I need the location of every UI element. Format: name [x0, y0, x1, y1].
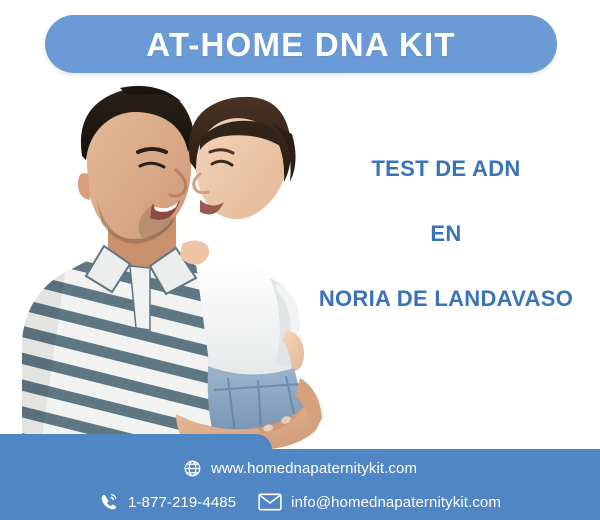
website-text: www.homednapaternitykit.com: [211, 461, 417, 476]
footer-row-phone-email: 1-877-219-4485 info@homednapaternitykit.…: [0, 487, 600, 517]
father-and-child-photo: [0, 78, 340, 450]
phone-contact-item[interactable]: 1-877-219-4485: [99, 492, 236, 512]
header-pill-banner: AT-HOME DNA KIT: [45, 15, 557, 73]
headline-line-3: NORIA DE LANDAVASO: [296, 288, 596, 310]
website-contact-item[interactable]: www.homednapaternitykit.com: [183, 459, 417, 478]
headline-line-1: TEST DE ADN: [296, 158, 596, 180]
footer-row-website: www.homednapaternitykit.com: [0, 453, 600, 483]
envelope-icon: [258, 493, 282, 511]
phone-text: 1-877-219-4485: [128, 495, 236, 510]
globe-icon: [183, 459, 202, 478]
header-title: AT-HOME DNA KIT: [146, 28, 455, 61]
email-text: info@homednapaternitykit.com: [291, 495, 501, 510]
headline-line-2: EN: [296, 223, 596, 245]
email-contact-item[interactable]: info@homednapaternitykit.com: [258, 493, 501, 511]
headline-block: TEST DE ADN EN NORIA DE LANDAVASO: [296, 158, 596, 310]
phone-icon: [99, 492, 119, 512]
poster-canvas: AT-HOME DNA KIT: [0, 0, 600, 520]
footer-contact-bar: www.homednapaternitykit.com 1-877-219-44…: [0, 449, 600, 520]
